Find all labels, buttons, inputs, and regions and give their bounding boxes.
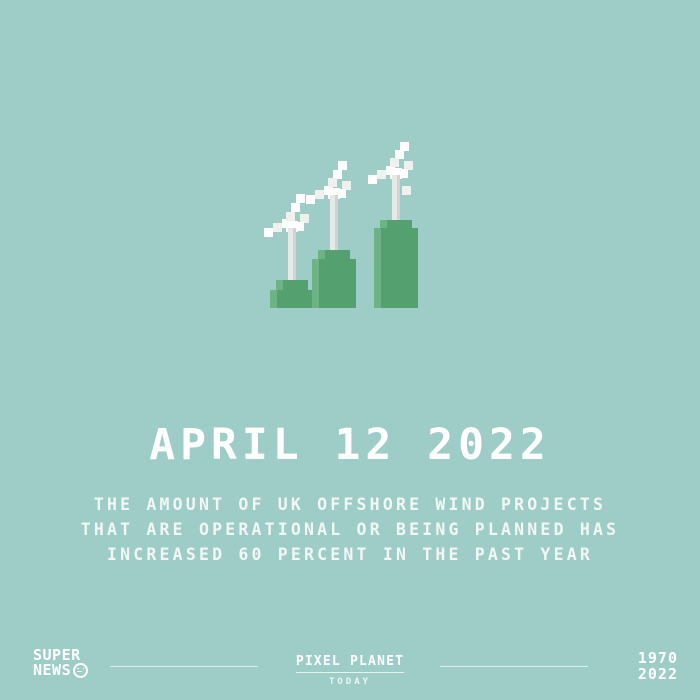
headline-date: APRIL 12 2022 <box>0 424 700 467</box>
turbine-tower <box>392 175 400 220</box>
turbine-scene <box>250 140 450 330</box>
turbine-tower <box>288 228 296 280</box>
blade-pixel <box>400 142 409 151</box>
blade-pixel <box>328 178 337 187</box>
tower-shade <box>397 175 400 220</box>
bar-medium <box>312 259 356 308</box>
news-card: APRIL 12 2022 THE AMOUNT OF UK OFFSHORE … <box>0 0 700 700</box>
bar-tall <box>374 228 418 308</box>
body-copy: THE AMOUNT OF UK OFFSHORE WIND PROJECTS … <box>0 492 700 567</box>
footer-brand[interactable]: PIXEL PLANET TODAY <box>0 650 700 687</box>
body-line: INCREASED 60 PERCENT IN THE PAST YEAR <box>0 542 700 567</box>
bar-cap-medium <box>318 250 350 259</box>
blade-pixel <box>296 194 305 203</box>
blade-pixel <box>402 186 411 195</box>
blade-pixel <box>273 223 282 232</box>
bar-cap-tall <box>380 220 412 228</box>
brand-subtitle: TODAY <box>0 677 700 687</box>
blade-pixel <box>338 161 347 170</box>
bar-highlight <box>270 290 277 308</box>
year-line-1: 1970 <box>638 650 678 666</box>
year-line-2: 2022 <box>638 666 678 682</box>
turbine-tower <box>330 195 338 250</box>
illustration-wind-turbines <box>0 140 700 330</box>
bar-short <box>270 290 314 308</box>
tower-shade <box>335 195 338 250</box>
body-line: THAT ARE OPERATIONAL OR BEING PLANNED HA… <box>0 517 700 542</box>
blade-pixel <box>306 195 315 204</box>
bar-cap-short <box>276 280 308 290</box>
blade-pixel <box>264 228 273 237</box>
bar-highlight <box>318 250 325 259</box>
footer-years: 1970 2022 <box>638 650 678 682</box>
blade-pixel <box>315 190 324 199</box>
blade-pixel <box>390 158 399 167</box>
blade-pixel <box>286 212 295 221</box>
bar-highlight <box>312 259 319 308</box>
bar-highlight <box>374 228 381 308</box>
bar-highlight <box>276 280 283 290</box>
body-line: THE AMOUNT OF UK OFFSHORE WIND PROJECTS <box>0 492 700 517</box>
brand-name: PIXEL PLANET <box>296 654 404 673</box>
blade-pixel <box>368 175 377 184</box>
blade-pixel <box>291 203 300 212</box>
tower-shade <box>293 228 296 280</box>
blade-pixel <box>377 170 386 179</box>
bar-highlight <box>380 220 387 228</box>
